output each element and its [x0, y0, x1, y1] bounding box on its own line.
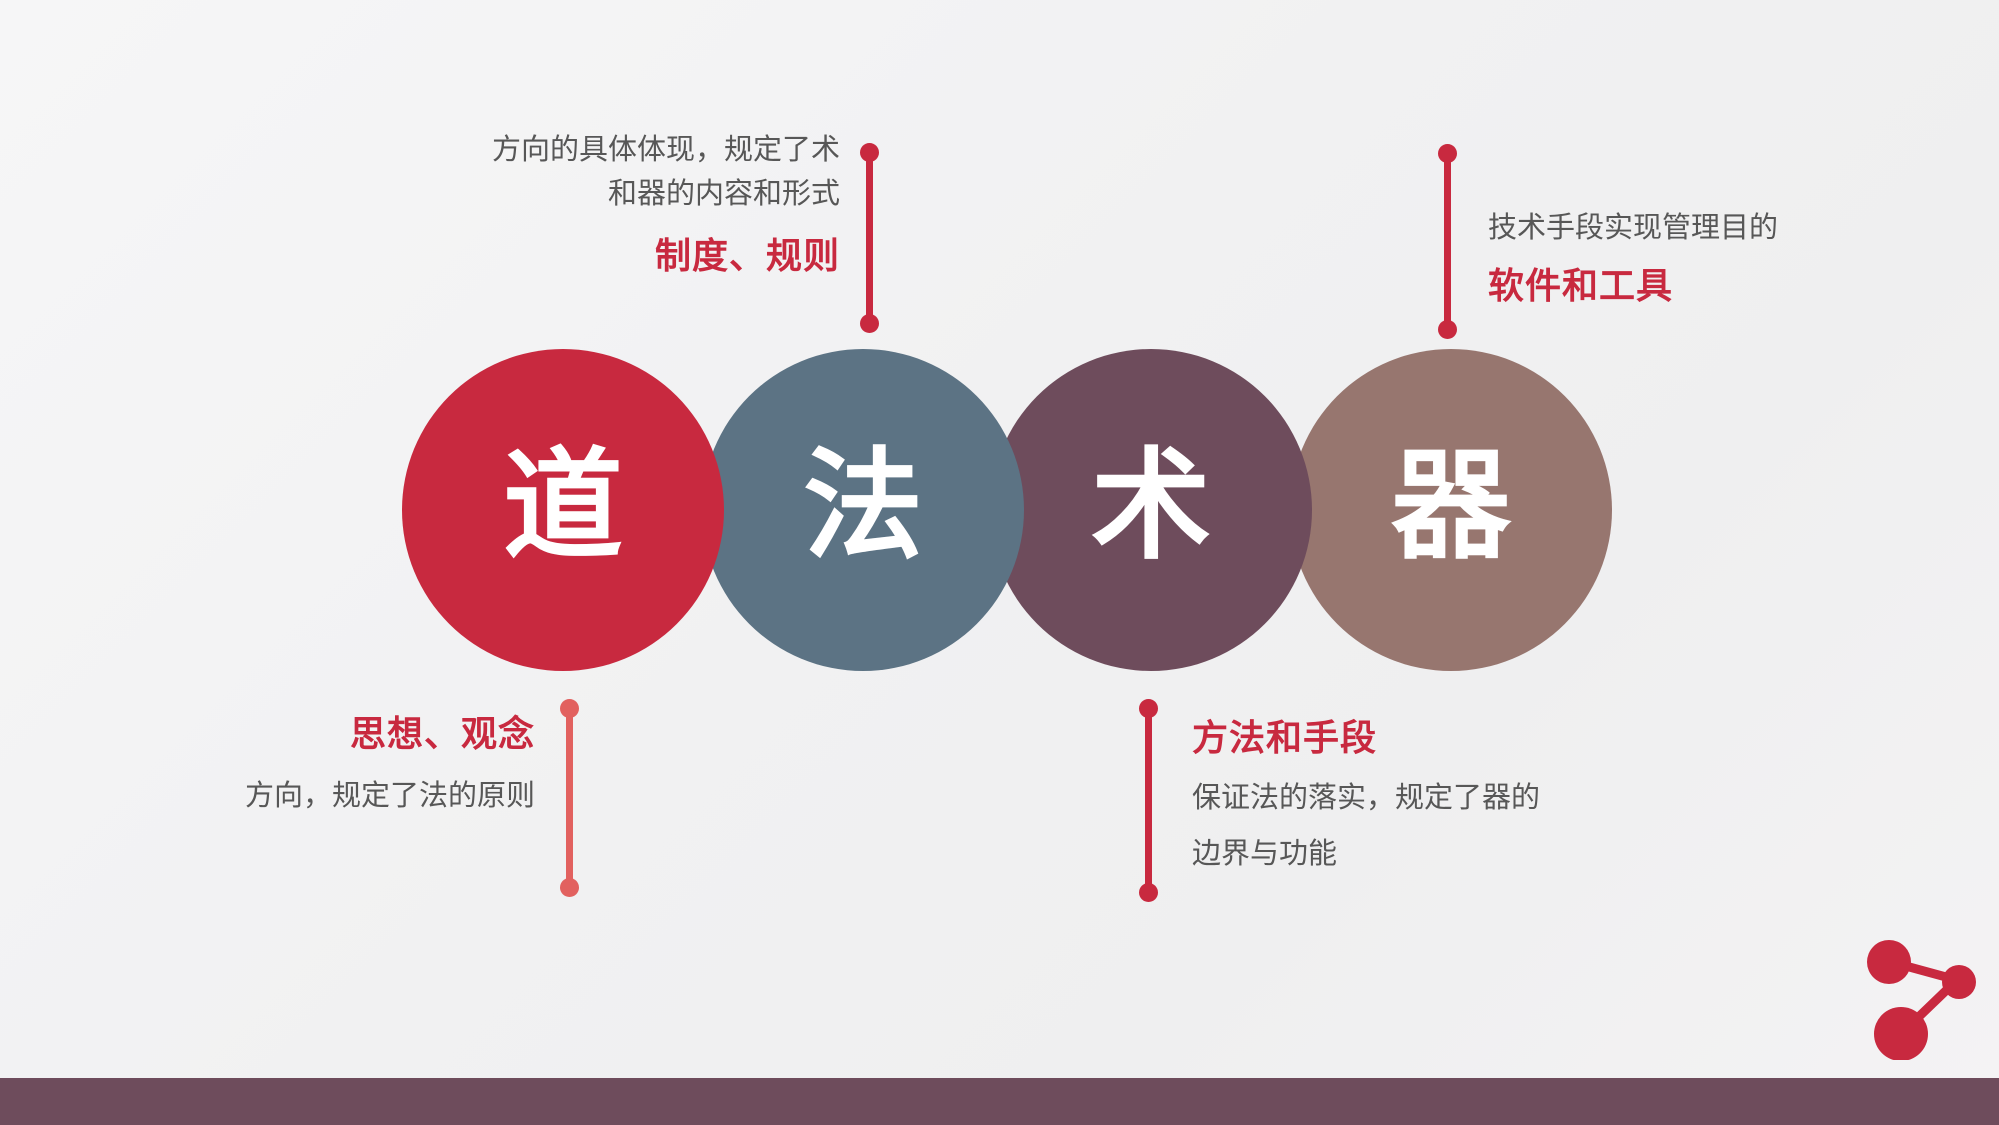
- callout-dao: 思想、观念 方向，规定了法的原则: [110, 708, 535, 818]
- callout-shu-desc-line2: 边界与功能: [1192, 832, 1540, 876]
- connector-fa-top: [866, 152, 873, 324]
- connector-line: [1444, 153, 1451, 330]
- callout-fa: 方向的具体体现，规定了术 和器的内容和形式 制度、规则: [360, 128, 840, 282]
- connector-line: [566, 708, 573, 888]
- callout-fa-desc-line2: 和器的内容和形式: [360, 172, 840, 216]
- circle-shu-glyph: 术: [1091, 446, 1211, 566]
- connector-qi-top: [1444, 153, 1451, 330]
- callout-shu-headline: 方法和手段: [1192, 712, 1540, 764]
- callout-dao-desc-line1: 方向，规定了法的原则: [110, 774, 535, 818]
- connector-dot-bottom: [560, 878, 579, 897]
- connector-line: [866, 152, 873, 324]
- circle-fa[interactable]: 法: [702, 349, 1024, 671]
- bottom-bar: [0, 1078, 1999, 1125]
- circle-dao[interactable]: 道: [402, 349, 724, 671]
- callout-fa-desc-line1: 方向的具体体现，规定了术: [360, 128, 840, 172]
- connector-shu-bottom: [1145, 708, 1152, 893]
- slide-canvas: 道 法 术 器 方向的具体体现，规定了术 和器的内容和形式 制度、规则 技术手段…: [0, 0, 1999, 1125]
- circle-fa-glyph: 法: [803, 446, 923, 566]
- circle-qi[interactable]: 器: [1290, 349, 1612, 671]
- callout-qi-desc-line1: 技术手段实现管理目的: [1488, 206, 1778, 250]
- callout-qi-headline: 软件和工具: [1488, 260, 1778, 312]
- connector-dot-bottom: [860, 314, 879, 333]
- connector-dot-bottom: [1438, 320, 1457, 339]
- connector-line: [1145, 708, 1152, 893]
- callout-fa-headline: 制度、规则: [360, 230, 840, 282]
- circle-qi-glyph: 器: [1391, 446, 1511, 566]
- callout-dao-headline: 思想、观念: [110, 708, 535, 760]
- connector-dao-bottom: [566, 708, 573, 888]
- connector-dot-bottom: [1139, 883, 1158, 902]
- share-network-icon[interactable]: [1863, 940, 1983, 1060]
- callout-qi: 技术手段实现管理目的 软件和工具: [1488, 206, 1778, 312]
- callout-shu: 方法和手段 保证法的落实，规定了器的 边界与功能: [1192, 712, 1540, 876]
- circle-dao-glyph: 道: [503, 446, 623, 566]
- callout-shu-desc-line1: 保证法的落实，规定了器的: [1192, 776, 1540, 820]
- circle-shu[interactable]: 术: [990, 349, 1312, 671]
